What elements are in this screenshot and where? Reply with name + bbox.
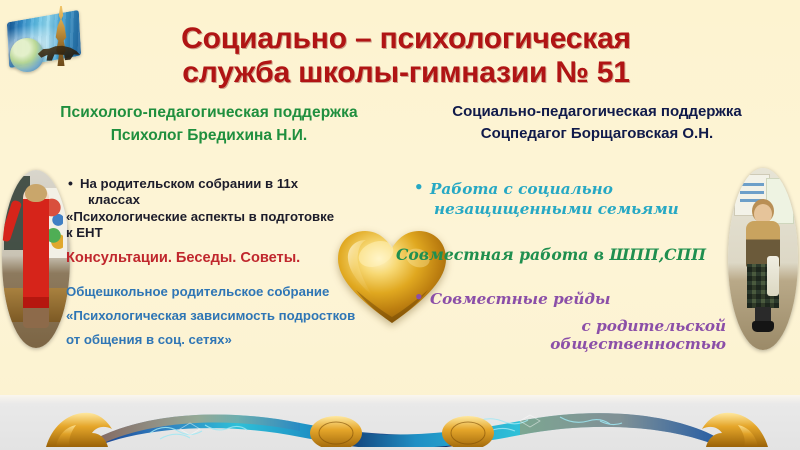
footer-credit-text — [795, 444, 796, 448]
left-bullet-1-line-1: На родительском собрании в 11х — [66, 176, 388, 192]
person-hair — [25, 184, 47, 202]
subheading-right-line-2: Соцпедагог Борщаговская О.Н. — [404, 122, 790, 145]
person-red-dress — [23, 186, 49, 328]
left-bullet-1-line-2: классах — [66, 192, 388, 208]
subheading-left-line-1: Психолого-педагогическая поддержка — [18, 103, 400, 124]
left-blue-line-1: Общешкольное родительское собрание — [66, 285, 388, 298]
right-bullet-1: Работа с социально незащищенными семьями — [412, 180, 732, 220]
subheading-left-line-2: Психолог Бредихина Н.И. — [18, 124, 400, 147]
content-column-right: Работа с социально незащищенными семьями… — [412, 180, 732, 354]
right-bullet-3-continuation: с родительской общественностью — [412, 317, 732, 354]
right-bullet-3-line-2: с родительской — [412, 317, 726, 336]
photo-psychologist — [2, 170, 70, 348]
bouquet-shape — [767, 256, 779, 296]
subheading-right-line-1: Социально-педагогическая поддержка — [404, 101, 790, 122]
left-dark-block: На родительском собрании в 11х классах «… — [66, 176, 388, 241]
presentation-slide: Социально – психологическая служба школы… — [0, 0, 800, 450]
subheading-left: Психолого-педагогическая поддержка Психо… — [18, 103, 400, 147]
left-blue-line-2: «Психологическая зависимость подростков — [66, 309, 388, 322]
kazakh-ornament-ribbon-icon — [0, 403, 800, 447]
photo-social-teacher — [728, 168, 798, 350]
slide-title: Социально – психологическая служба школы… — [96, 22, 716, 89]
right-bullet-1-line-1: Работа с социально — [430, 180, 613, 198]
content-column-left: На родительском собрании в 11х классах «… — [66, 176, 388, 357]
title-line-2: служба школы-гимназии № 51 — [96, 56, 716, 90]
right-bullet-3: Совместные рейды — [412, 290, 732, 309]
subheading-row: Психолого-педагогическая поддержка Психо… — [0, 103, 800, 159]
footer-ornament-band — [0, 395, 800, 450]
left-blue-block: Общешкольное родительское собрание «Псих… — [66, 285, 388, 347]
left-red-highlight: Консультации. Беседы. Советы. — [66, 250, 388, 268]
title-line-1: Социально – психологическая — [96, 22, 716, 56]
right-bullet-3-line-3: общественностью — [412, 335, 726, 354]
left-quote-line-2: к ЕНТ — [66, 225, 388, 241]
kazakhstan-flag-monument-emblem-icon — [6, 4, 90, 76]
right-bullet-1-line-2: незащищенными семьями — [430, 200, 732, 220]
left-quote-line-1: «Психологические аспекты в подготовке — [66, 209, 388, 225]
right-bullet-2: Совместная работа в ШПП,СПП — [396, 245, 732, 264]
person-boots — [752, 321, 774, 332]
person-figure — [746, 204, 780, 332]
subheading-right: Социально-педагогическая поддержка Соцпе… — [404, 101, 790, 145]
left-blue-line-3: от общения в соц. сетях» — [66, 333, 388, 346]
